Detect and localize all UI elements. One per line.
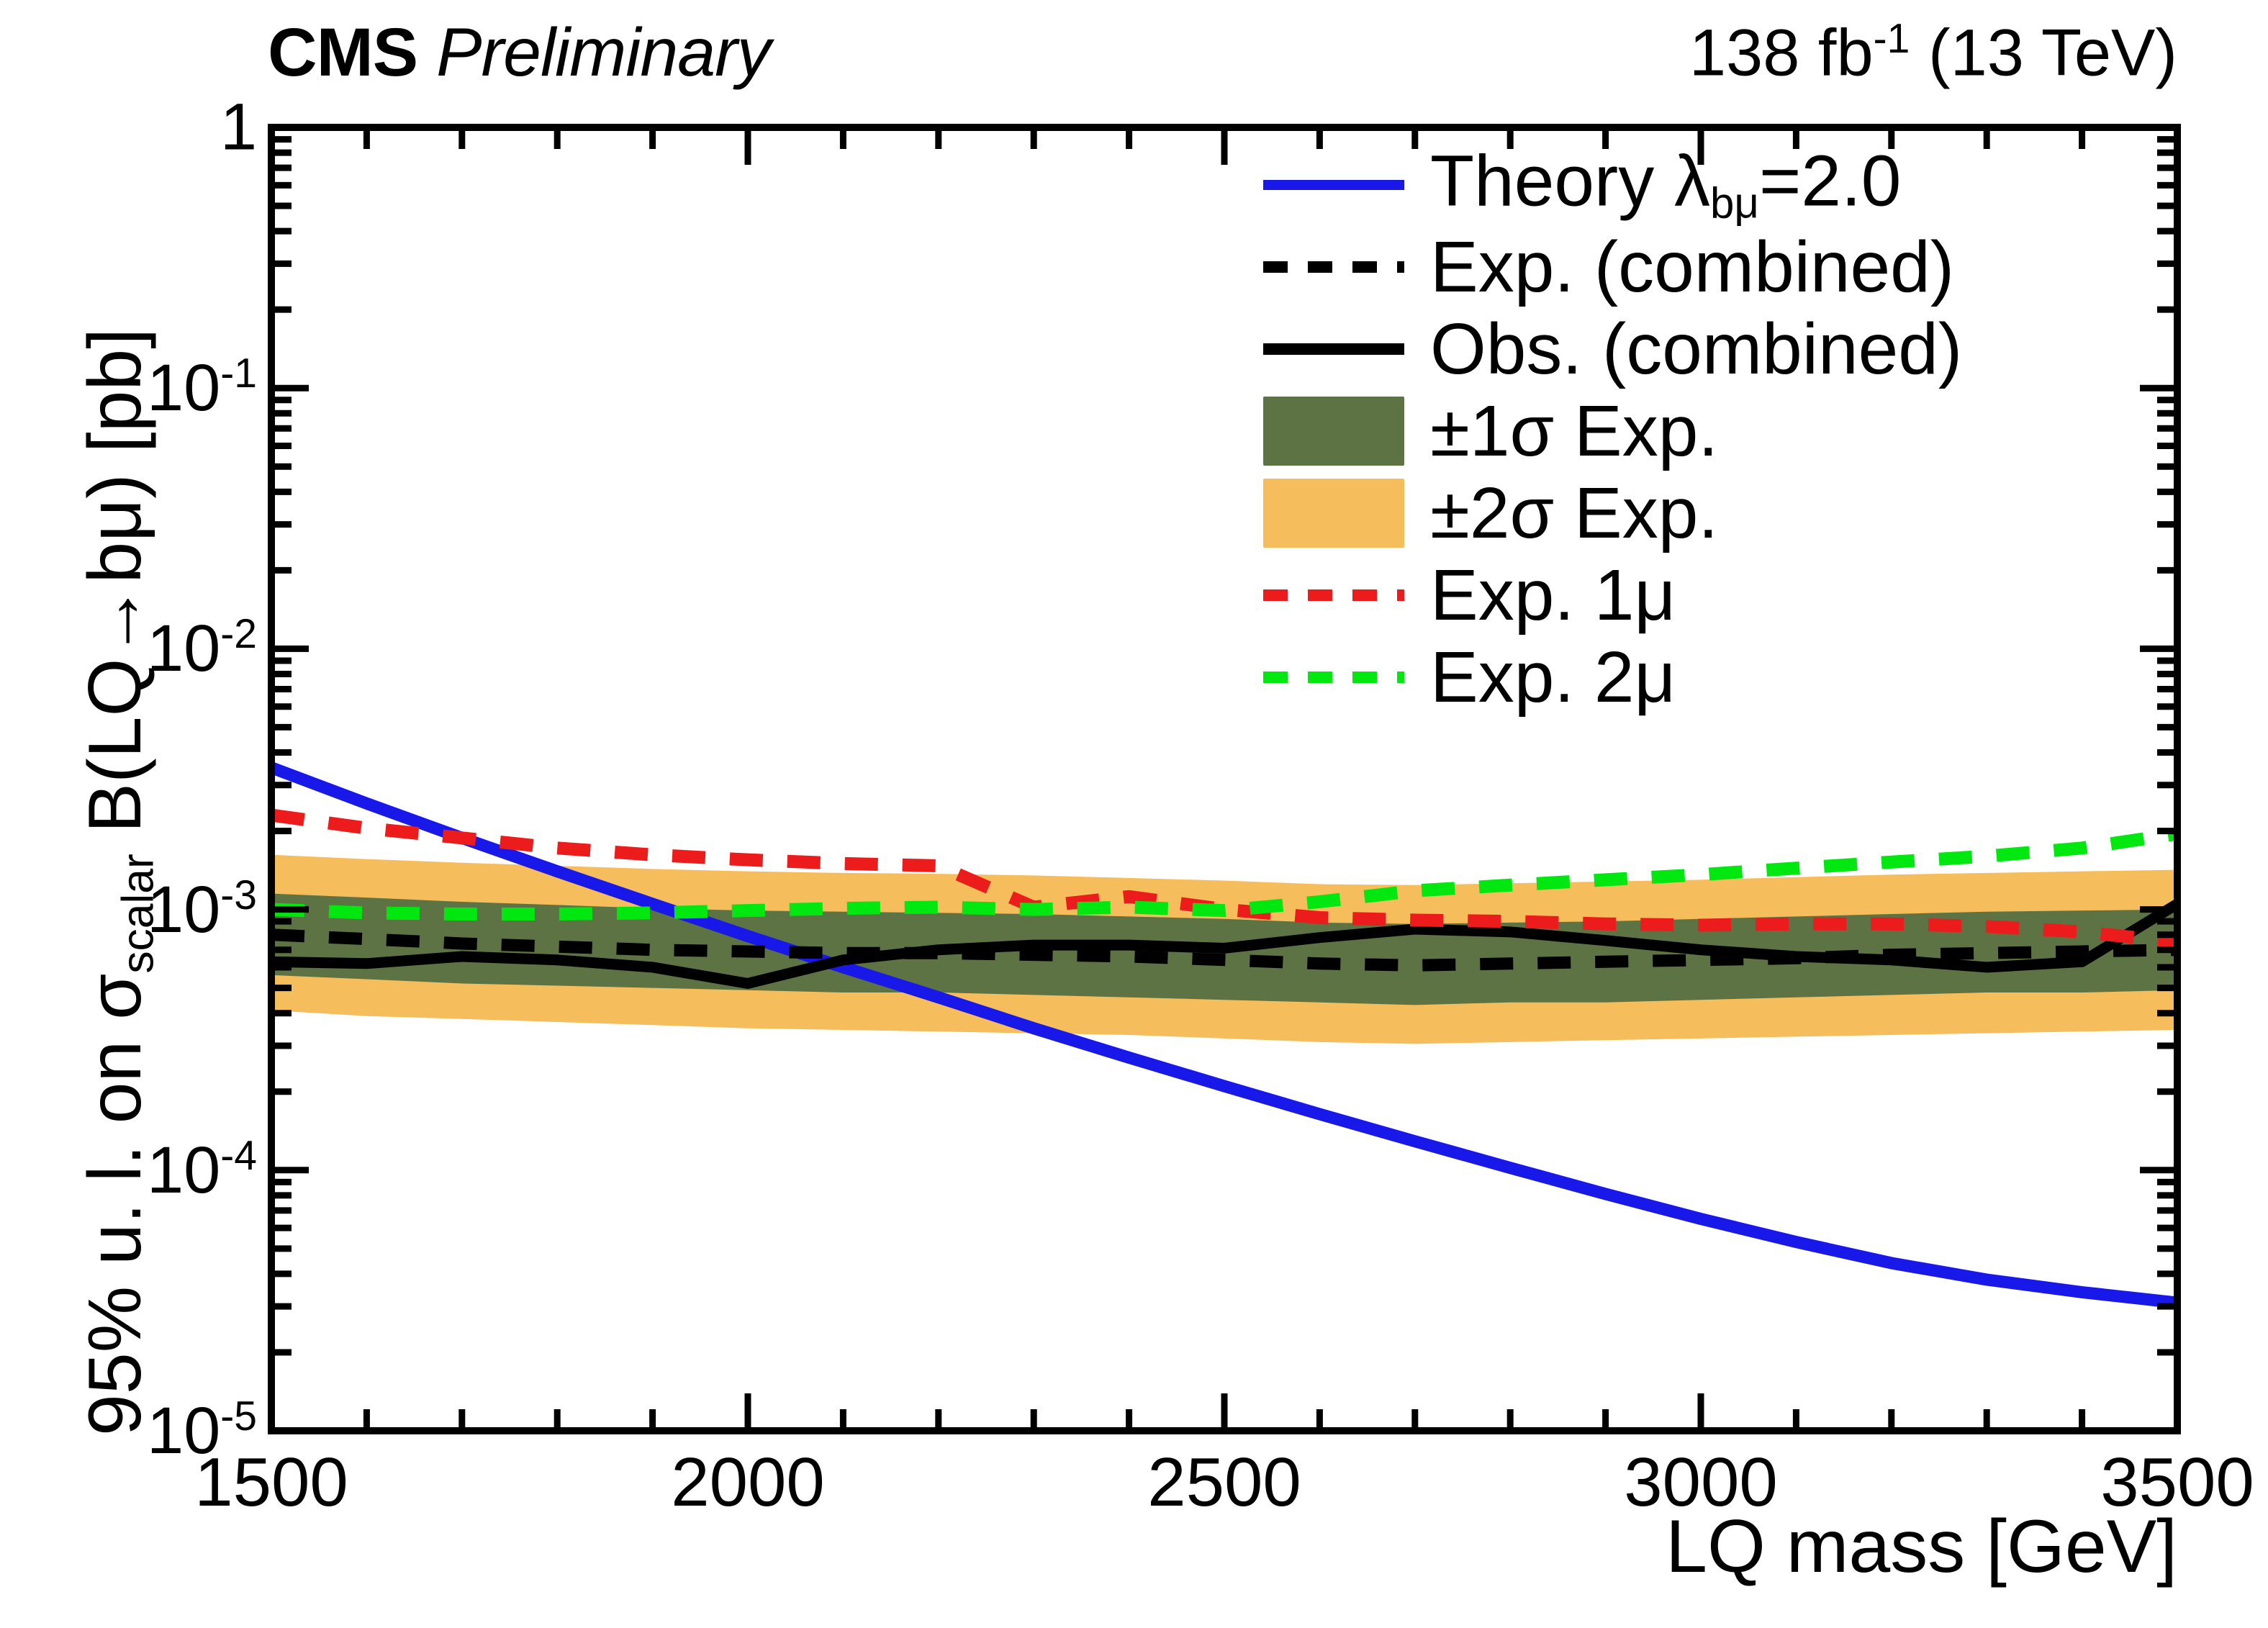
legend-item-exp-combined[interactable]: Exp. (combined) [1263, 226, 2170, 308]
x-tick-label: 3000 [1624, 1443, 1778, 1522]
legend: Theory λbμ=2.0Exp. (combined)Obs. (combi… [1263, 144, 2170, 718]
legend-swatch-obs-combined [1263, 343, 1404, 355]
legend-label-main: Exp. (combined) [1430, 227, 1954, 307]
legend-label-exp-2mu: Exp. 2μ [1430, 641, 1676, 713]
legend-label-theory: Theory λbμ=2.0 [1430, 145, 1901, 225]
x-tick-label: 1500 [194, 1443, 348, 1522]
x-tick-label: 3500 [2100, 1443, 2254, 1522]
legend-label-exp-1mu: Exp. 1μ [1430, 559, 1676, 631]
legend-swatch-two-sigma [1263, 479, 1404, 548]
legend-label-main: Exp. 2μ [1430, 637, 1676, 718]
legend-swatch-exp-2mu [1263, 671, 1404, 683]
legend-item-theory[interactable]: Theory λbμ=2.0 [1263, 144, 2170, 226]
x-tick-label: 2000 [671, 1443, 825, 1522]
legend-label-main: Obs. (combined) [1430, 309, 1962, 389]
legend-item-obs-combined[interactable]: Obs. (combined) [1263, 308, 2170, 390]
legend-label-tail: =2.0 [1759, 141, 1901, 222]
legend-item-one-sigma[interactable]: ±1σ Exp. [1263, 390, 2170, 472]
legend-swatch-one-sigma [1263, 397, 1404, 466]
legend-label-main: Exp. 1μ [1430, 555, 1676, 636]
legend-label-one-sigma: ±1σ Exp. [1430, 395, 1718, 467]
legend-swatch-exp-combined [1263, 261, 1404, 273]
legend-label-subscript: bμ [1710, 178, 1759, 227]
legend-swatch-theory [1263, 180, 1404, 190]
x-tick-label: 2500 [1147, 1443, 1301, 1522]
legend-label-obs-combined: Obs. (combined) [1430, 313, 1962, 385]
legend-item-exp-2mu[interactable]: Exp. 2μ [1263, 636, 2170, 718]
legend-label-main: Theory λ [1430, 141, 1710, 222]
legend-label-main: ±2σ Exp. [1430, 473, 1718, 553]
legend-swatch-exp-1mu [1263, 589, 1404, 601]
legend-item-two-sigma[interactable]: ±2σ Exp. [1263, 472, 2170, 554]
plot-canvas: CMSPreliminary 138 fb-1 (13 TeV) 95% u. … [0, 0, 2268, 1628]
legend-label-main: ±1σ Exp. [1430, 391, 1718, 471]
legend-label-exp-combined: Exp. (combined) [1430, 231, 1954, 303]
legend-item-exp-1mu[interactable]: Exp. 1μ [1263, 554, 2170, 636]
legend-label-two-sigma: ±2σ Exp. [1430, 477, 1718, 549]
